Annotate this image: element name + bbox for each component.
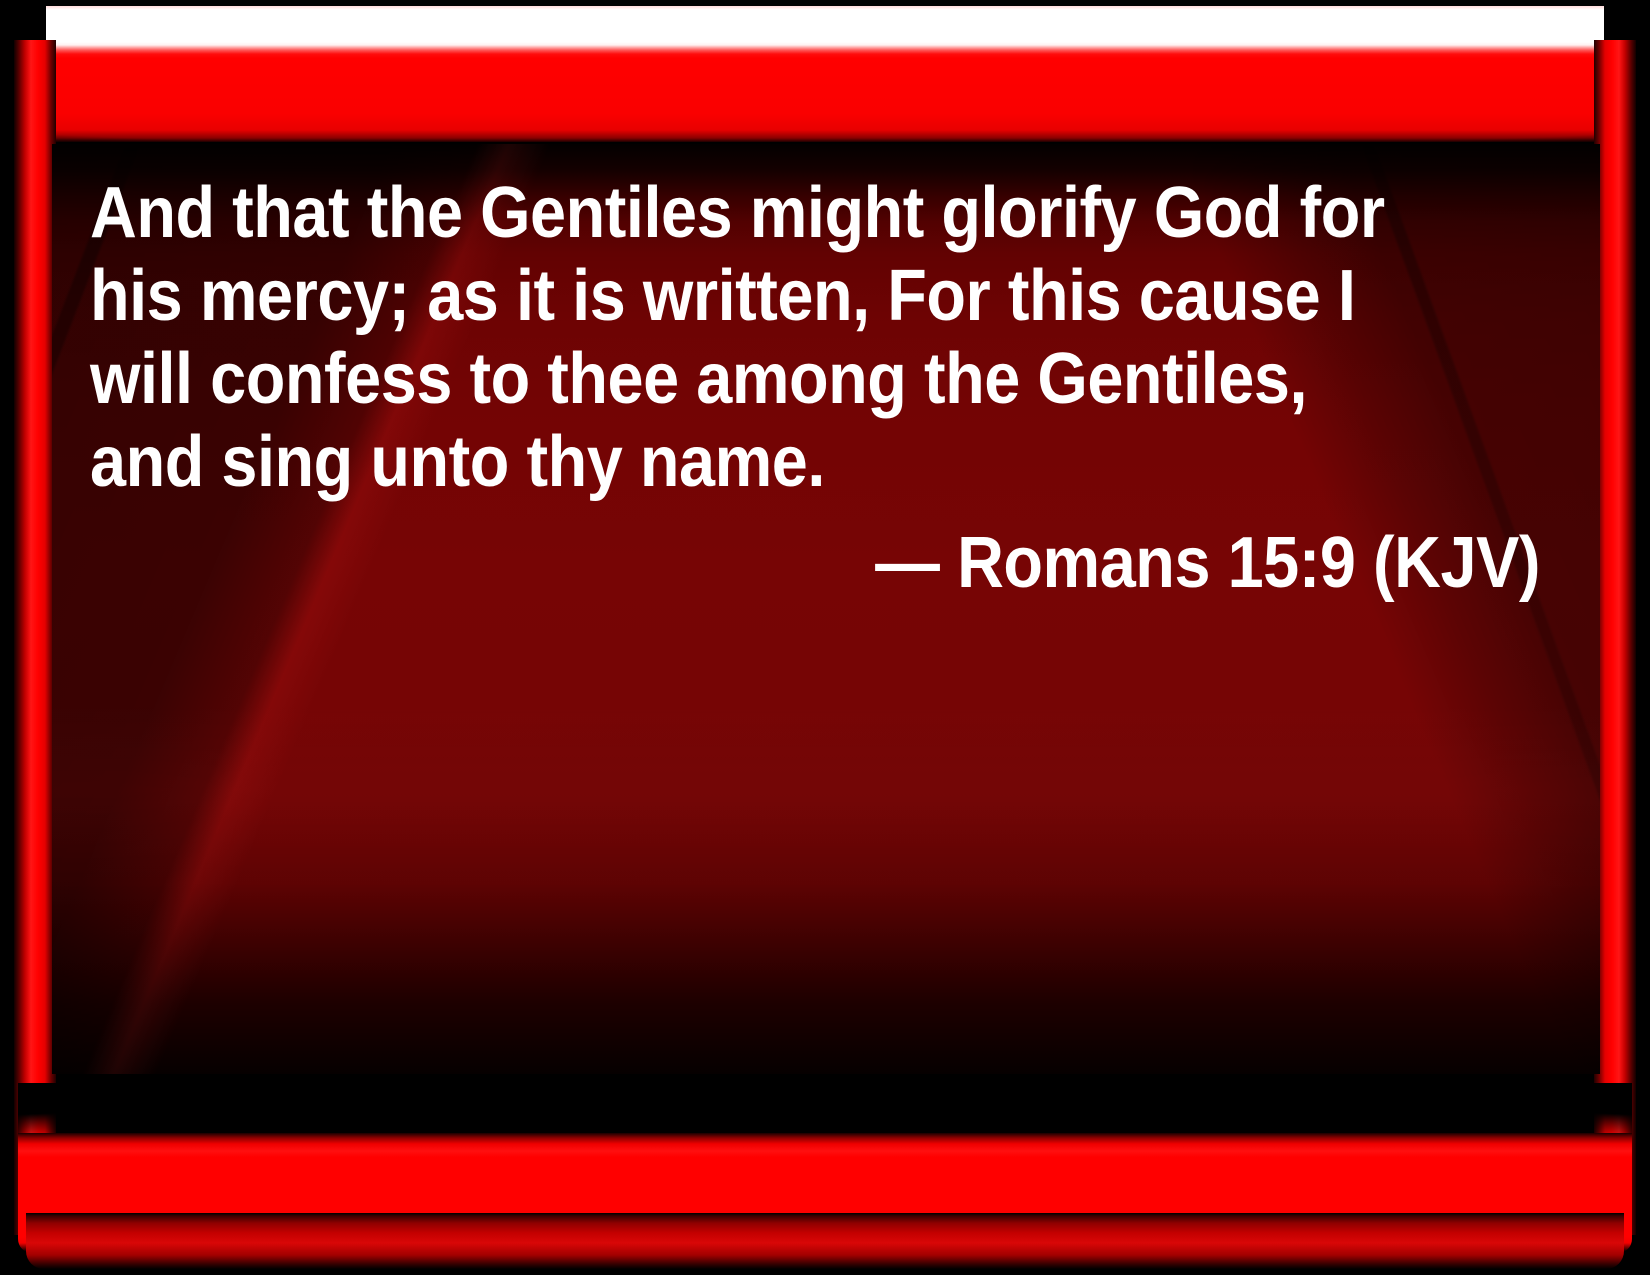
verse-attribution: — Romans 15:9 (KJV): [235, 520, 1540, 606]
verse-text-block: And that the Gentiles might glorify God …: [90, 172, 1540, 606]
right-red-rail: [1594, 40, 1636, 1235]
content-panel: And that the Gentiles might glorify God …: [52, 144, 1600, 1074]
bottom-bevel-lip: [26, 1213, 1624, 1269]
background-sheen: [52, 704, 1600, 894]
top-bevel-bar: [18, 6, 1632, 142]
left-red-rail: [14, 40, 56, 1235]
verse-body: And that the Gentiles might glorify God …: [90, 172, 1395, 504]
verse-slide: And that the Gentiles might glorify God …: [0, 0, 1650, 1275]
